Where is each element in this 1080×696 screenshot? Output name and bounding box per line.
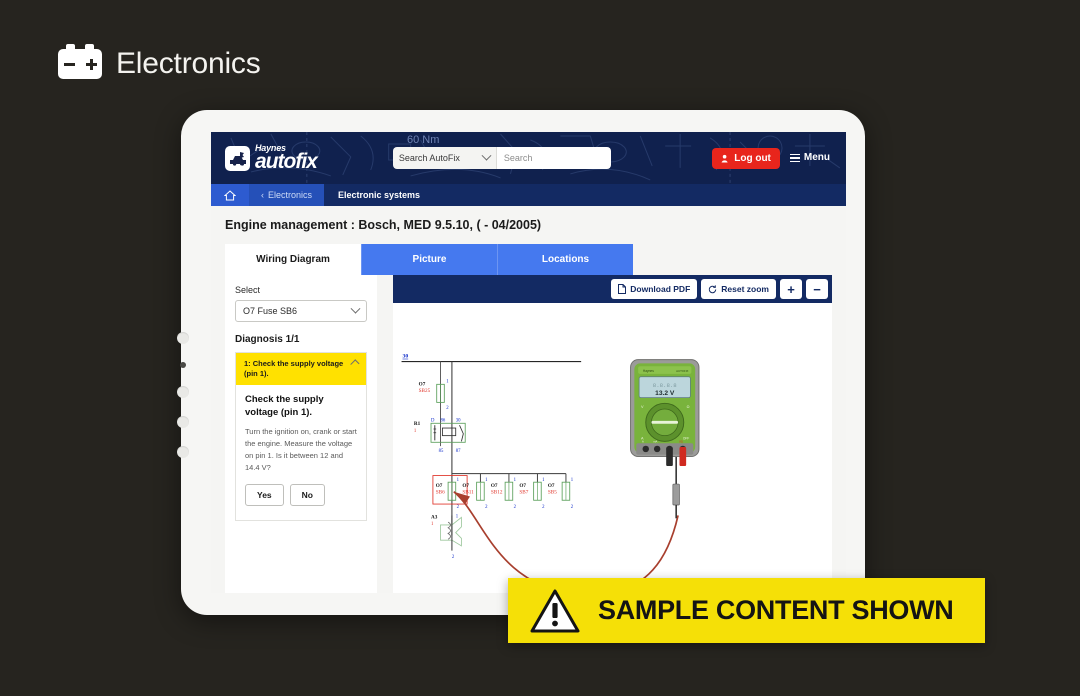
fuse-code: O7	[419, 381, 426, 387]
logo-mark-icon	[225, 146, 250, 171]
svg-text:1: 1	[431, 522, 434, 527]
car-wrench-icon	[229, 151, 247, 166]
bus-label-30: 30	[403, 354, 409, 360]
svg-text:2: 2	[514, 505, 517, 510]
select-label: Select	[235, 285, 367, 295]
svg-text:O7: O7	[519, 483, 526, 489]
svg-text:O7: O7	[462, 483, 469, 489]
svg-text:1: 1	[457, 478, 460, 483]
accordion-header[interactable]: 1: Check the supply voltage (pin 1).	[236, 353, 366, 385]
svg-text:2: 2	[452, 555, 455, 560]
breadcrumb: ‹ Electronics Electronic systems	[211, 184, 846, 206]
refresh-icon	[708, 285, 717, 294]
search-scope-value: Search AutoFix	[399, 153, 460, 163]
user-icon	[721, 154, 730, 163]
breadcrumb-current: Electronic systems	[324, 184, 434, 206]
svg-text:1: 1	[571, 478, 574, 483]
svg-text:D: D	[431, 418, 435, 423]
svg-text:SB12: SB12	[491, 490, 503, 496]
accordion-body: Check the supply voltage (pin 1). Turn t…	[236, 385, 366, 520]
diagnosis-title: Diagnosis 1/1	[235, 334, 367, 345]
svg-text:30: 30	[456, 418, 461, 423]
multimeter: Haynes AUTOFIX 8.8.8.8 13.2 V V Ω A	[631, 360, 699, 466]
wiring-diagram: 30 O7 SB25 1 2	[393, 303, 832, 593]
main-content: Engine management : Bosch, MED 9.5.10, (…	[211, 206, 846, 593]
svg-text:1: 1	[446, 379, 449, 384]
actuator-code: A3	[431, 514, 438, 520]
svg-text:OFF: OFF	[683, 436, 689, 440]
app-header: 60 Nm Haynes autofix Search	[211, 132, 846, 184]
zoom-out-button[interactable]: −	[806, 279, 828, 299]
diagnosis-accordion: 1: Check the supply voltage (pin 1). Che…	[235, 352, 367, 521]
svg-text:SB11: SB11	[462, 490, 474, 496]
blueprint-torque-label: 60 Nm	[407, 134, 439, 146]
svg-text:SB5: SB5	[548, 490, 557, 496]
breadcrumb-home[interactable]	[211, 184, 249, 206]
home-icon	[224, 190, 236, 201]
search-bar: Search AutoFix Search	[393, 147, 611, 169]
tab-picture[interactable]: Picture	[361, 244, 497, 275]
download-pdf-button[interactable]: Download PDF	[611, 279, 697, 299]
svg-text:1: 1	[542, 478, 545, 483]
wiring-diagram-canvas[interactable]: 30 O7 SB25 1 2	[393, 303, 832, 593]
answer-buttons: Yes No	[245, 484, 357, 506]
hamburger-icon	[790, 152, 800, 164]
yes-button[interactable]: Yes	[245, 484, 284, 506]
page-title: Electronics	[116, 47, 261, 81]
document-icon	[618, 284, 626, 294]
fuse-id: SB25	[419, 388, 431, 394]
svg-text:2: 2	[571, 505, 574, 510]
warning-triangle-icon	[530, 589, 580, 633]
tab-wiring-diagram[interactable]: Wiring Diagram	[225, 244, 361, 275]
search-input[interactable]: Search	[497, 147, 611, 169]
multimeter-reading: 13.2 V	[655, 390, 675, 397]
chevron-down-icon	[481, 150, 491, 160]
chevron-down-icon	[351, 303, 361, 313]
svg-text:2: 2	[446, 406, 449, 411]
svg-text:Haynes: Haynes	[643, 369, 654, 373]
logo-autofix-text: autofix	[255, 151, 317, 172]
breadcrumb-back-label: Electronics	[268, 190, 312, 200]
panel-row: Select O7 Fuse SB6 Diagnosis 1/1 1: Chec…	[225, 275, 832, 593]
search-placeholder: Search	[504, 153, 533, 163]
svg-text:SB6: SB6	[436, 490, 445, 496]
svg-text:1: 1	[514, 478, 517, 483]
download-pdf-label: Download PDF	[630, 284, 690, 294]
tab-locations[interactable]: Locations	[497, 244, 633, 275]
zoom-in-button[interactable]: +	[780, 279, 802, 299]
diagram-viewer: Download PDF Reset zoom + −	[393, 275, 832, 593]
menu-label: Menu	[804, 152, 830, 163]
header-actions: Log out Menu	[712, 148, 836, 169]
diagnosis-step-title: Check the supply voltage (pin 1).	[245, 394, 357, 420]
haynes-autofix-logo[interactable]: Haynes autofix	[225, 144, 317, 172]
svg-text:2: 2	[542, 505, 545, 510]
svg-text:8.8.8.8: 8.8.8.8	[653, 382, 677, 389]
chevron-left-icon: ‹	[261, 190, 264, 200]
svg-text:AUTOFIX: AUTOFIX	[676, 369, 688, 373]
reset-zoom-label: Reset zoom	[721, 284, 769, 294]
sample-content-label: SAMPLE CONTENT SHOWN	[598, 595, 954, 626]
breadcrumb-item-electronics[interactable]: ‹ Electronics	[249, 184, 324, 206]
svg-text:O7: O7	[491, 483, 498, 489]
svg-text:VΩ: VΩ	[679, 439, 683, 443]
svg-text:85: 85	[439, 449, 444, 454]
svg-text:2: 2	[485, 505, 488, 510]
svg-text:1: 1	[485, 478, 488, 483]
svg-text:mA: mA	[653, 439, 657, 443]
svg-text:O7: O7	[436, 483, 443, 489]
tablet-screen: 60 Nm Haynes autofix Search	[211, 132, 846, 593]
tablet-side-buttons	[177, 332, 189, 476]
tablet-device: 60 Nm Haynes autofix Search	[181, 110, 865, 615]
tab-bar: Wiring Diagram Picture Locations	[225, 244, 832, 275]
logout-label: Log out	[734, 153, 771, 164]
svg-text:O7: O7	[548, 483, 555, 489]
menu-button[interactable]: Menu	[790, 152, 830, 164]
document-title: Engine management : Bosch, MED 9.5.10, (…	[225, 218, 832, 232]
svg-text:Ω: Ω	[687, 405, 690, 409]
diagnosis-sidebar: Select O7 Fuse SB6 Diagnosis 1/1 1: Chec…	[225, 275, 377, 593]
chevron-up-icon	[351, 359, 360, 368]
svg-text:2: 2	[457, 505, 460, 510]
relay-code: R1	[414, 421, 421, 427]
reset-zoom-button[interactable]: Reset zoom	[701, 279, 776, 299]
fuse-select[interactable]: O7 Fuse SB6	[235, 300, 367, 322]
svg-text:1: 1	[414, 429, 417, 434]
svg-text:87: 87	[456, 449, 461, 454]
svg-text:86: 86	[441, 418, 446, 423]
fuse-select-value: O7 Fuse SB6	[243, 306, 297, 316]
sample-content-banner: SAMPLE CONTENT SHOWN	[508, 578, 985, 643]
svg-text:V: V	[641, 405, 644, 409]
page-heading: Electronics	[58, 47, 261, 81]
diagnosis-step-text: Turn the ignition on, crank or start the…	[245, 426, 357, 475]
svg-text:A: A	[642, 439, 644, 443]
battery-icon	[58, 49, 102, 79]
search-scope-select[interactable]: Search AutoFix	[393, 147, 497, 169]
svg-text:SB7: SB7	[519, 490, 528, 496]
accordion-header-label: 1: Check the supply voltage (pin 1).	[244, 359, 346, 379]
no-button[interactable]: No	[290, 484, 325, 506]
viewer-toolbar: Download PDF Reset zoom + −	[393, 275, 832, 303]
logout-button[interactable]: Log out	[712, 148, 780, 169]
svg-text:1: 1	[456, 514, 459, 519]
